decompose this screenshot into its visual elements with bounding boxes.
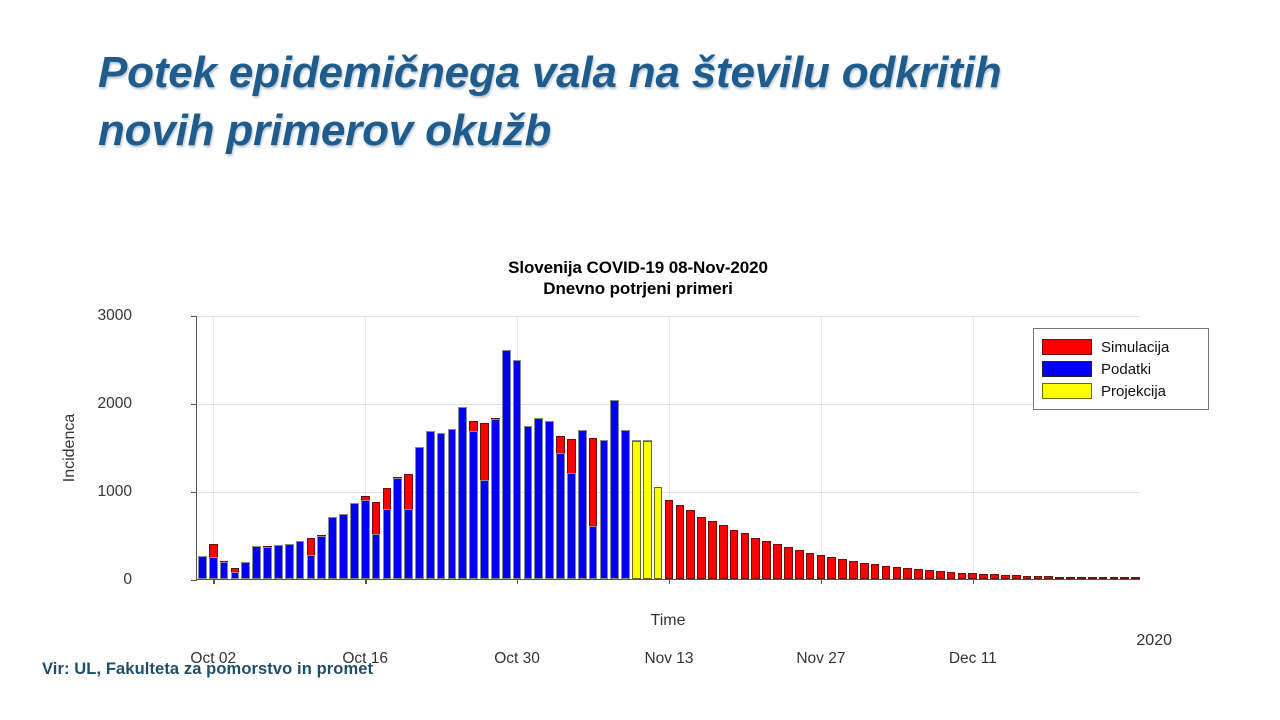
page-title-line-2: novih primerov okužb <box>98 106 551 155</box>
bar-simulacija <box>936 571 945 579</box>
bar-simulacija <box>893 567 902 579</box>
bar-simulacija <box>1066 577 1075 579</box>
bar-podatki <box>393 478 402 579</box>
bar-simulacija <box>773 544 782 579</box>
y-tick-label: 3000 <box>42 307 132 325</box>
bar-simulacija <box>784 547 793 579</box>
bar-podatki <box>404 509 413 579</box>
bar-podatki <box>307 555 316 579</box>
y-axis-label: Incidenca <box>61 414 79 483</box>
bar-podatki <box>285 544 294 579</box>
y-tick-mark <box>191 316 197 317</box>
x-tick-mark <box>365 579 366 584</box>
bar-simulacija <box>795 550 804 579</box>
bar-simulacija <box>990 574 999 579</box>
bar-simulacija <box>827 557 836 579</box>
bar-simulacija <box>838 559 847 579</box>
y-tick-mark <box>191 404 197 405</box>
chart-title: Slovenija COVID-19 08-Nov-2020 Dnevno po… <box>118 258 1158 299</box>
bar-podatki <box>263 547 272 579</box>
bar-simulacija <box>708 521 717 579</box>
bar-podatki <box>545 421 554 579</box>
bar-simulacija <box>676 505 685 579</box>
x-tick-mark <box>973 579 974 584</box>
bar-podatki <box>415 447 424 579</box>
x-axis-year-note: 2020 <box>1136 632 1172 650</box>
bar-podatki <box>350 503 359 579</box>
page-title: Potek epidemičnega vala na številu odkri… <box>98 44 1128 160</box>
bar-podatki <box>252 546 261 579</box>
legend-item-projekcija: Projekcija <box>1042 380 1199 402</box>
legend-swatch-simulacija <box>1042 339 1092 355</box>
legend-swatch-podatki <box>1042 361 1092 377</box>
bar-podatki <box>524 426 533 579</box>
bar-podatki <box>372 534 381 579</box>
x-tick-mark <box>213 579 214 584</box>
bar-podatki <box>437 433 446 579</box>
bar-podatki <box>328 517 337 579</box>
bar-podatki <box>469 431 478 579</box>
vertical-gridline <box>213 316 214 579</box>
legend-item-podatki: Podatki <box>1042 358 1199 380</box>
bar-simulacija <box>817 555 826 579</box>
bar-podatki <box>383 509 392 579</box>
y-tick-label: 2000 <box>42 395 132 413</box>
bar-podatki <box>317 536 326 579</box>
legend-item-simulacija: Simulacija <box>1042 336 1199 358</box>
legend-label-projekcija: Projekcija <box>1101 383 1166 400</box>
bar-podatki <box>448 429 457 579</box>
bar-podatki <box>578 430 587 579</box>
chart-figure: Slovenija COVID-19 08-Nov-2020 Dnevno po… <box>118 252 1158 652</box>
legend-swatch-projekcija <box>1042 383 1092 399</box>
bar-podatki <box>426 431 435 579</box>
bar-simulacija <box>903 568 912 579</box>
bar-simulacija <box>1099 577 1108 579</box>
bar-simulacija <box>762 541 771 579</box>
bar-simulacija <box>958 573 967 579</box>
y-tick-label: 1000 <box>42 483 132 501</box>
bar-simulacija <box>1034 576 1043 579</box>
bar-podatki <box>502 350 511 579</box>
bar-simulacija <box>686 510 695 579</box>
bar-simulacija <box>1001 575 1010 579</box>
bar-simulacija <box>968 573 977 579</box>
x-tick-label: Nov 27 <box>796 650 845 668</box>
chart-subtitle: Dnevno potrjeni primeri <box>118 279 1158 300</box>
plot-area: Oct 02Oct 16Oct 30Nov 13Nov 27Dec 11 Sim… <box>196 316 1140 580</box>
vertical-gridline <box>821 316 822 579</box>
bar-simulacija <box>730 530 739 579</box>
bar-simulacija <box>697 517 706 579</box>
bar-podatki <box>209 557 218 579</box>
x-tick-mark <box>669 579 670 584</box>
bar-simulacija <box>925 570 934 579</box>
bar-podatki <box>589 526 598 579</box>
bar-podatki <box>491 419 500 579</box>
bar-simulacija <box>719 525 728 579</box>
bar-podatki <box>274 545 283 579</box>
x-axis-label: Time <box>196 612 1140 630</box>
bar-podatki <box>458 407 467 579</box>
bar-podatki <box>567 473 576 579</box>
bar-simulacija <box>1055 577 1064 579</box>
bar-simulacija <box>849 561 858 579</box>
bar-simulacija <box>1012 575 1021 579</box>
source-note: Vir: UL, Fakulteta za pomorstvo in prome… <box>42 660 373 679</box>
bar-podatki <box>198 556 207 579</box>
bar-simulacija <box>947 572 956 579</box>
bar-projekcija <box>632 441 641 579</box>
bar-podatki <box>339 514 348 579</box>
legend-label-simulacija: Simulacija <box>1101 339 1169 356</box>
x-tick-mark <box>821 579 822 584</box>
bar-podatki <box>480 480 489 579</box>
bar-simulacija <box>860 563 869 579</box>
bar-simulacija <box>979 574 988 579</box>
bar-podatki <box>296 541 305 579</box>
bar-simulacija <box>1077 577 1086 579</box>
bar-projekcija <box>654 487 663 579</box>
bar-podatki <box>610 400 619 579</box>
vertical-gridline <box>973 316 974 579</box>
bar-simulacija <box>665 500 674 579</box>
y-tick-mark <box>191 580 197 581</box>
bar-podatki <box>621 430 630 579</box>
bar-simulacija <box>1131 577 1140 579</box>
bar-podatki <box>361 500 370 579</box>
bar-simulacija <box>1044 576 1053 579</box>
bar-podatki <box>241 562 250 579</box>
bar-podatki <box>556 453 565 579</box>
bar-simulacija <box>1120 577 1129 579</box>
bar-simulacija <box>741 533 750 579</box>
bar-simulacija <box>914 569 923 579</box>
y-tick-label: 0 <box>42 571 132 589</box>
bar-podatki <box>220 562 229 579</box>
chart-title-main: Slovenija COVID-19 08-Nov-2020 <box>508 258 768 277</box>
bar-podatki <box>231 572 240 579</box>
bar-simulacija <box>882 566 891 579</box>
bar-simulacija <box>871 564 880 579</box>
x-tick-label: Dec 11 <box>949 650 997 668</box>
chart-legend: Simulacija Podatki Projekcija <box>1033 328 1209 410</box>
y-tick-mark <box>191 492 197 493</box>
bar-podatki <box>513 360 522 579</box>
x-tick-mark <box>517 579 518 584</box>
x-tick-label: Oct 30 <box>494 650 540 668</box>
legend-label-podatki: Podatki <box>1101 361 1151 378</box>
bar-simulacija <box>806 553 815 579</box>
bar-simulacija <box>1088 577 1097 579</box>
page-title-line-1: Potek epidemičnega vala na številu odkri… <box>98 48 1001 97</box>
bar-simulacija <box>1023 576 1032 579</box>
bar-simulacija <box>751 538 760 579</box>
x-tick-label: Nov 13 <box>644 650 693 668</box>
bar-podatki <box>600 440 609 579</box>
bar-podatki <box>534 418 543 579</box>
bar-projekcija <box>643 441 652 579</box>
bar-simulacija <box>1110 577 1119 579</box>
